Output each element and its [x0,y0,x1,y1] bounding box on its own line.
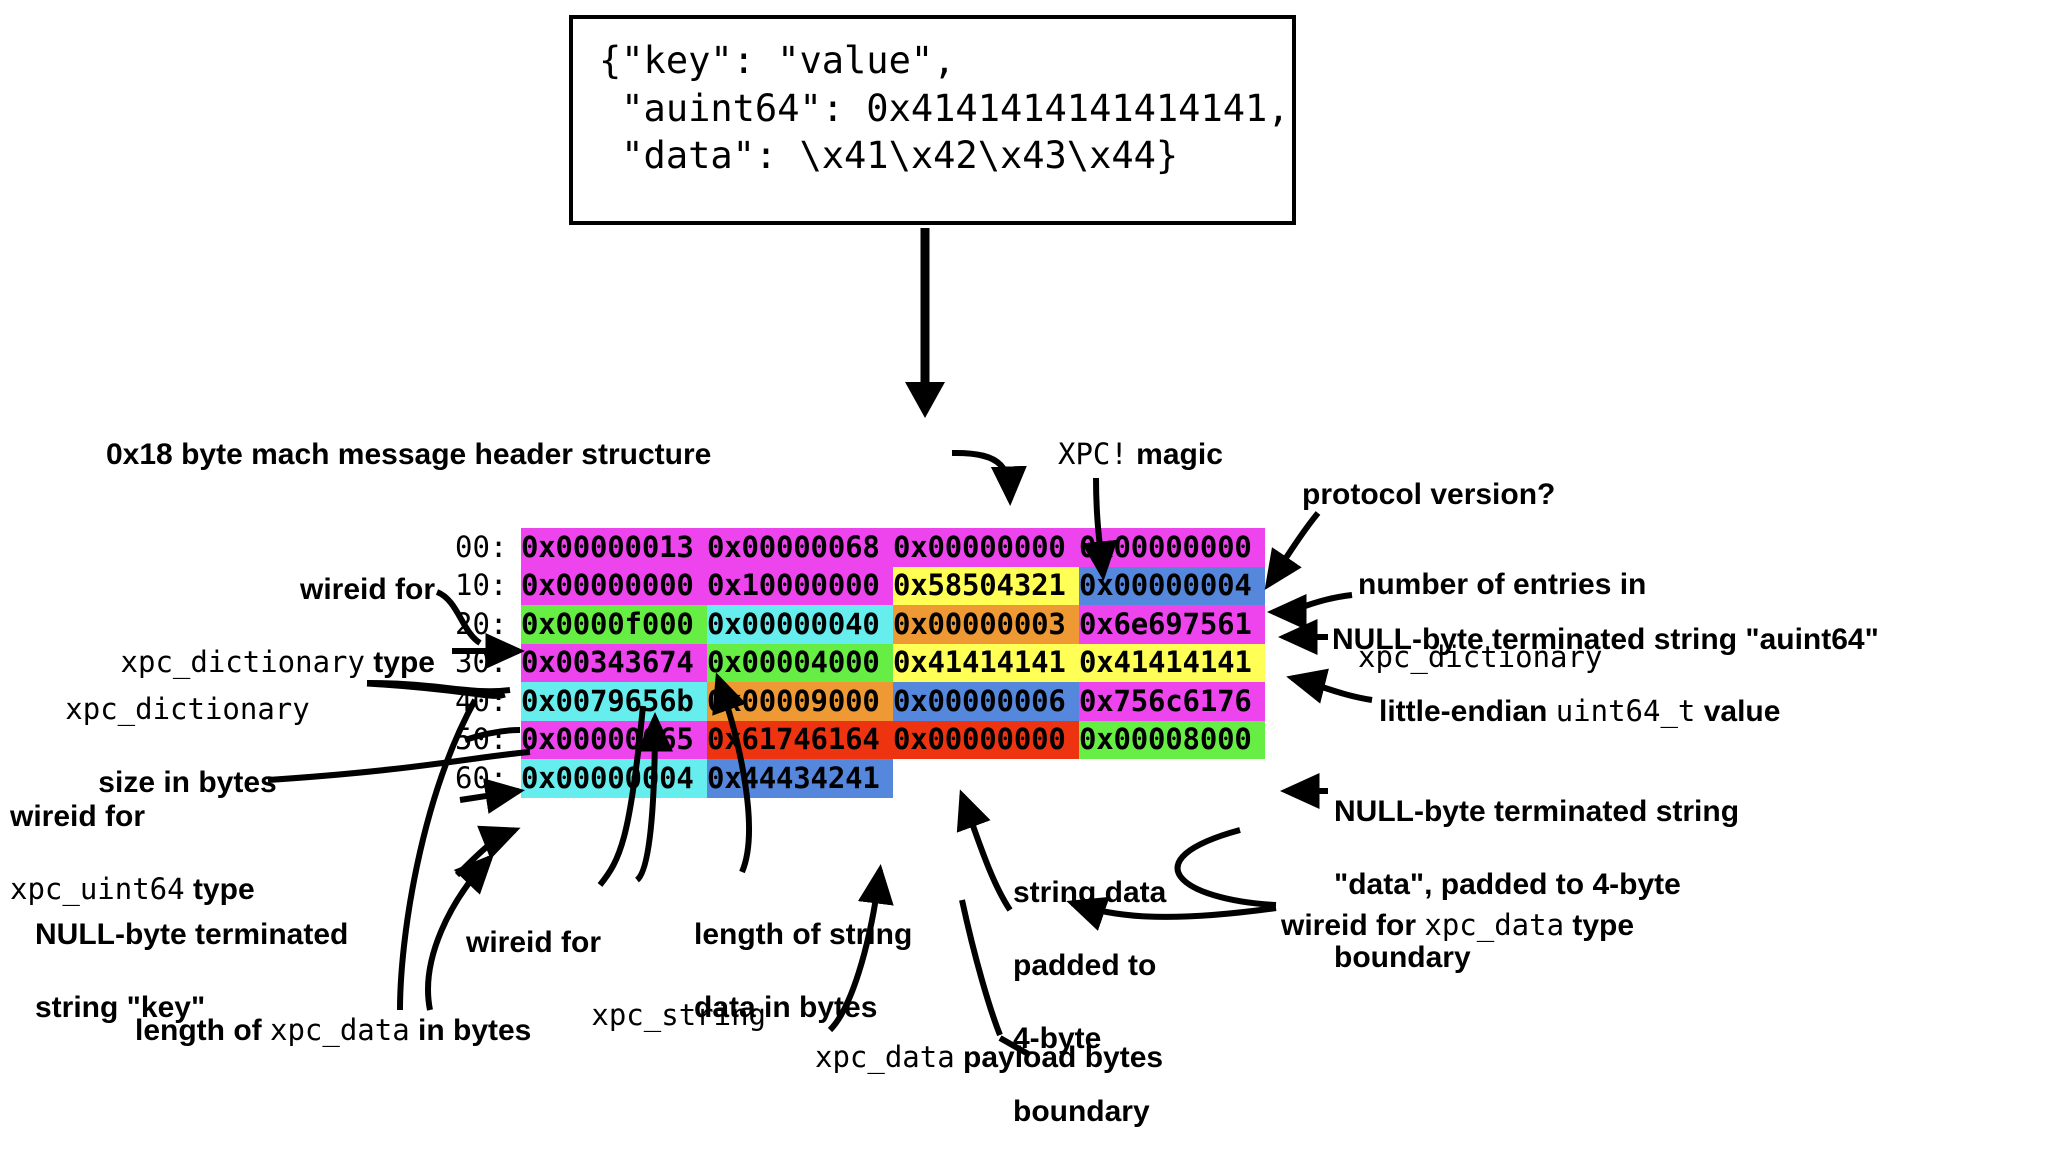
hexdump-cells: 0x000000040x44434241 [521,759,1265,798]
hexdump-cell: 0x61746164 [707,721,893,760]
length-xpc-data-pre: length of [135,1014,270,1047]
hexdump-row: 10:0x000000000x100000000x585043210x00000… [455,567,1265,606]
hexdump-row: 40:0x0079656b0x000090000x000000060x756c6… [455,682,1265,721]
annotation-little-endian-uint64: little-endian uint64_t value [1379,694,1979,731]
hexdump-offset: 20: [455,605,521,644]
xpc-data-payload-mono: xpc_data [815,1040,955,1074]
hexdump-cell: 0x00000000 [893,528,1079,567]
hexdump-cells: 0x0079656b0x000090000x000000060x756c6176 [521,682,1265,721]
flow-arrow [905,228,945,418]
hexdump-cell: 0x41414141 [1079,644,1265,683]
hexdump-cell: 0x41414141 [893,644,1079,683]
annotation-protocol-version: protocol version? [1302,477,1632,514]
hexdump-cells: 0x0000f0000x000000400x000000030x6e697561 [521,605,1265,644]
hexdump-offset: 10: [455,567,521,606]
string-padded-line1: string data [1013,875,1233,912]
hexdump-row: 30:0x003436740x000040000x414141410x41414… [455,644,1265,683]
length-of-string-line1: length of string [694,917,1034,954]
length-of-string-line2: data in bytes [694,990,1034,1027]
hexdump-offset: 40: [455,682,521,721]
null-key-line1: NULL-byte terminated [35,917,455,954]
hexdump-cell: 0x00000040 [707,605,893,644]
leader-number-of-entries [1273,595,1352,612]
annotation-wireid-xpc-data: wireid for xpc_data type [1281,908,1801,945]
leader-mach-header [952,453,1010,500]
hexdump-cell: 0x00000004 [1079,567,1265,606]
number-of-entries-line1: number of entries in [1358,567,1778,604]
hexdump-cell: 0x756c6176 [1079,682,1265,721]
hexdump-cell: 0x0079656b [521,682,707,721]
xpc-magic-mono: XPC! [1058,437,1128,471]
hexdump-cell: 0x00000000 [893,721,1079,760]
hexdump-cell [1079,759,1265,798]
leader-protocol-version [1268,513,1318,585]
little-endian-pre: little-endian [1379,695,1556,728]
hexdump-row: 50:0x000000650x617461640x000000000x00008… [455,721,1265,760]
leader-null-key [457,830,515,875]
hexdump-offset: 00: [455,528,521,567]
little-endian-mono: uint64_t [1556,694,1696,728]
hexdump-row: 20:0x0000f0000x000000400x000000030x6e697… [455,605,1265,644]
annotation-xpc-data-payload: xpc_data payload bytes [815,1040,1315,1077]
string-padded-line4: boundary [1013,1094,1233,1131]
null-data-line2: "data", padded to 4-byte [1334,867,1954,904]
hexdump-cell: 0x6e697561 [1079,605,1265,644]
hexdump-offset: 60: [455,759,521,798]
hexdump-cell: 0x44434241 [707,759,893,798]
xpc-data-payload-post: payload bytes [955,1041,1163,1074]
hexdump-cell: 0x00000003 [893,605,1079,644]
hexdump-cell: 0x00000006 [893,682,1079,721]
hexdump-cells: 0x003436740x000040000x414141410x41414141 [521,644,1265,683]
little-endian-post: value [1695,695,1780,728]
hexdump-cell: 0x00000068 [707,528,893,567]
hexdump-cell [893,759,1079,798]
hexdump-cells: 0x000000650x617461640x000000000x00008000 [521,721,1265,760]
hexdump-cell: 0x0000f000 [521,605,707,644]
annotation-null-data: NULL-byte terminated string "data", padd… [1334,757,1954,1013]
annotation-length-of-string-data: length of string data in bytes [694,880,1034,1063]
hexdump-cell: 0x00009000 [707,682,893,721]
hexdump-cell: 0x00000065 [521,721,707,760]
dict-size-mono: xpc_dictionary [65,692,309,726]
wireid-uint64-line1: wireid for [10,799,410,836]
string-padded-line2: padded to [1013,948,1233,985]
wireid-data-pre: wireid for [1281,909,1424,942]
json-source-box: {"key": "value", "auint64": 0x4141414141… [569,15,1296,225]
hexdump-table: 00:0x000000130x000000680x000000000x00000… [455,528,1265,798]
hexdump-cell: 0x00004000 [707,644,893,683]
wireid-dict-type: type [365,646,435,679]
wireid-data-post: type [1564,909,1634,942]
dict-size-line1: xpc_dictionary [10,692,365,729]
wireid-dict-line1: wireid for [10,572,435,609]
hexdump-cells: 0x000000130x000000680x000000000x00000000 [521,528,1265,567]
annotation-null-auint64: NULL-byte terminated string "auint64" [1332,622,2048,659]
hexdump-cell: 0x00000000 [521,567,707,606]
length-xpc-data-mono: xpc_data [270,1013,410,1047]
annotation-xpc-magic: XPC! magic [1058,437,1318,474]
annotation-mach-header: 0x18 byte mach message header structure [106,437,746,474]
hexdump-offset: 50: [455,721,521,760]
hexdump-row: 00:0x000000130x000000680x000000000x00000… [455,528,1265,567]
annotation-length-xpc-data: length of xpc_data in bytes [135,1013,695,1050]
wireid-data-mono: xpc_data [1424,908,1564,942]
hexdump-cells: 0x000000000x100000000x585043210x00000004 [521,567,1265,606]
hexdump-offset: 30: [455,644,521,683]
length-xpc-data-post: in bytes [410,1014,532,1047]
hexdump-row: 60:0x000000040x44434241 [455,759,1265,798]
hexdump-cell: 0x00000004 [521,759,707,798]
diagram-canvas: {"key": "value", "auint64": 0x4141414141… [0,0,2048,1085]
hexdump-cell: 0x00000013 [521,528,707,567]
xpc-magic-rest: magic [1128,438,1223,471]
annotation-string-data-padded: string data padded to 4-byte boundary [1013,838,1233,1167]
hexdump-cell: 0x10000000 [707,567,893,606]
hexdump-cell: 0x00000000 [1079,528,1265,567]
null-data-line3: boundary [1334,940,1954,977]
hexdump-cell: 0x00008000 [1079,721,1265,760]
hexdump-cell: 0x58504321 [893,567,1079,606]
null-data-line1: NULL-byte terminated string [1334,794,1954,831]
hexdump-cell: 0x00343674 [521,644,707,683]
